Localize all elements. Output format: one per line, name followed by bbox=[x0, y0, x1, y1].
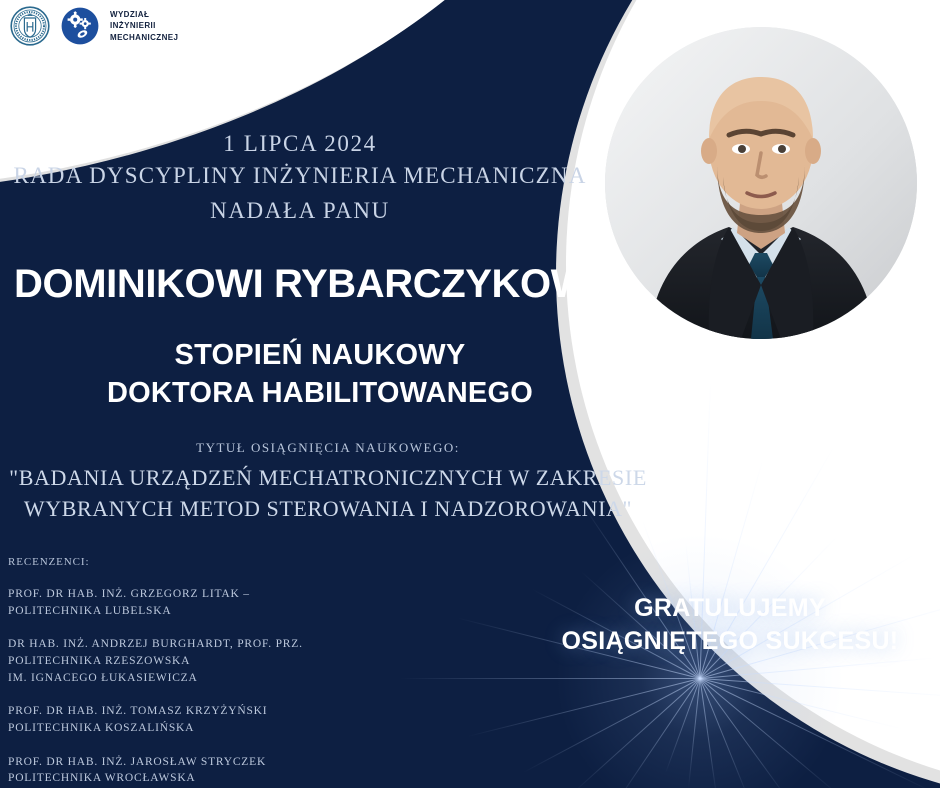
header-logos: WYDZIAŁ INŻYNIERII MECHANICZNEJ bbox=[10, 6, 178, 46]
reviewers-label: RECENZENCI: bbox=[8, 556, 338, 568]
portrait-photo bbox=[605, 27, 917, 339]
announcement-awarded-to: NADAŁA PANU bbox=[0, 194, 600, 229]
announcement-block: 1 LIPCA 2024 RADA DYSCYPLINY INŻYNIERIA … bbox=[0, 128, 600, 228]
honoree-name: DOMINIKOWI RYBARCZYKOWI bbox=[14, 262, 599, 307]
reviewer-item: PROF. DR HAB. INŻ. JAROSŁAW STRYCZEK POL… bbox=[8, 754, 338, 787]
achievement-label: TYTUŁ OSIĄGNIĘCIA NAUKOWEGO: bbox=[0, 440, 656, 456]
achievement-title-line-1: "BADANIA URZĄDZEŃ MECHATRONICZNYCH W ZAK… bbox=[0, 462, 656, 493]
university-seal-icon bbox=[10, 6, 50, 46]
starburst-ray bbox=[665, 678, 700, 772]
achievement-block: TYTUŁ OSIĄGNIĘCIA NAUKOWEGO: "BADANIA UR… bbox=[0, 440, 656, 524]
achievement-title-line-2: WYBRANYCH METOD STEROWANIA I NADZOROWANI… bbox=[0, 493, 656, 524]
gear-cog-logo-icon bbox=[60, 6, 100, 46]
reviewer-item: PROF. DR HAB. INŻ. TOMASZ KRZYŻYŃSKI POL… bbox=[8, 703, 338, 736]
starburst-ray bbox=[467, 678, 700, 737]
starburst-ray bbox=[688, 678, 700, 788]
starburst-ray bbox=[400, 678, 700, 679]
starburst-ray bbox=[523, 678, 700, 773]
congratulations-poster: WYDZIAŁ INŻYNIERII MECHANICZNEJ bbox=[0, 0, 940, 788]
degree-block: STOPIEŃ NAUKOWY DOKTORA HABILITOWANEGO bbox=[0, 336, 640, 413]
announcement-date: 1 LIPCA 2024 bbox=[0, 128, 600, 159]
starburst-ray bbox=[700, 678, 750, 788]
portrait-frame bbox=[596, 18, 926, 348]
congratulations-line-2: OSIĄGNIĘTEGO SUKCESU! bbox=[520, 625, 940, 658]
degree-line-2: DOKTORA HABILITOWANEGO bbox=[0, 374, 640, 412]
congratulations-line-1: GRATULUJEMY bbox=[520, 592, 940, 625]
starburst-ray bbox=[700, 678, 718, 788]
announcement-council: RADA DYSCYPLINY INŻYNIERIA MECHANICZNA bbox=[0, 159, 600, 194]
reviewers-block: RECENZENCI: PROF. DR HAB. INŻ. GRZEGORZ … bbox=[8, 556, 338, 788]
faculty-name-label: WYDZIAŁ INŻYNIERII MECHANICZNEJ bbox=[110, 9, 178, 42]
starburst-ray bbox=[573, 678, 700, 788]
reviewer-item: PROF. DR HAB. INŻ. GRZEGORZ LITAK – POLI… bbox=[8, 586, 338, 619]
reviewer-item: DR HAB. INŻ. ANDRZEJ BURGHARDT, PROF. PR… bbox=[8, 636, 338, 686]
congratulations-block: GRATULUJEMY OSIĄGNIĘTEGO SUKCESU! bbox=[520, 592, 940, 657]
degree-line-1: STOPIEŃ NAUKOWY bbox=[0, 336, 640, 374]
starburst-ray bbox=[616, 678, 701, 788]
